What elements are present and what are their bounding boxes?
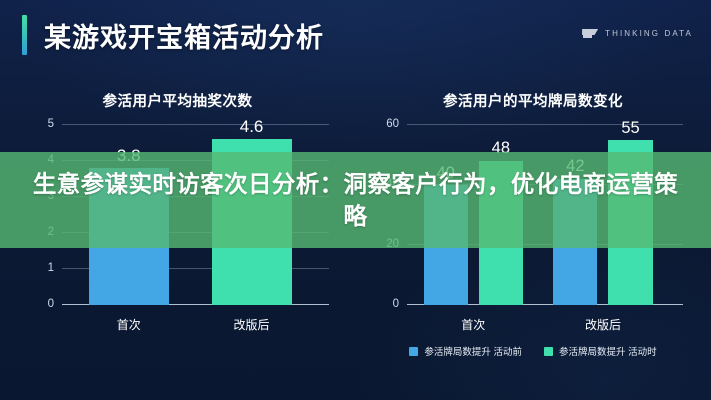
page-header: 某游戏开宝箱活动分析 THINKING DATA (0, 0, 711, 70)
title-accent-bar (22, 15, 27, 55)
ytick-label-1: 1 (48, 262, 54, 274)
ytick-label-5: 5 (48, 118, 54, 130)
ytick-label-0: 0 (48, 298, 54, 310)
gridline-60: 60 (407, 124, 683, 125)
legend-item-during[interactable]: 参活牌局数提升 活动时 (544, 344, 657, 358)
bar-value-label-revised: 4.6 (240, 117, 264, 137)
xaxis-label-revised: 改版后 (585, 316, 621, 333)
right-chart-legend: 参活牌局数提升 活动前 参活牌局数提升 活动时 (355, 344, 711, 358)
page-title: 某游戏开宝箱活动分析 (44, 16, 324, 55)
xaxis-label-first: 首次 (461, 316, 485, 333)
ytick-label-60: 60 (386, 118, 399, 130)
xaxis-label-first: 首次 (117, 316, 141, 333)
legend-label-during: 参活牌局数提升 活动时 (559, 344, 657, 358)
left-chart-title: 参活用户平均抽奖次数 (0, 90, 355, 111)
legend-item-before[interactable]: 参活牌局数提升 活动前 (409, 344, 522, 358)
caption-overlay-band: 生意参谋实时访客次日分析：洞察客户行为，优化电商运营策略 (0, 152, 711, 248)
brand-logo: THINKING DATA (582, 28, 693, 39)
legend-label-before: 参活牌局数提升 活动前 (424, 344, 522, 358)
caption-text: 生意参谋实时访客次日分析：洞察客户行为，优化电商运营策略 (22, 168, 689, 233)
brand-name-label: THINKING DATA (605, 29, 693, 38)
legend-swatch-green-icon (544, 347, 553, 356)
gridline-5: 5 (62, 124, 329, 125)
thinking-data-logo-icon (582, 28, 598, 39)
ytick-label-0: 0 (393, 298, 399, 310)
legend-swatch-blue-icon (409, 347, 418, 356)
right-chart-title: 参活用户的平均牌局数变化 (355, 90, 711, 111)
xaxis-label-revised: 改版后 (234, 316, 270, 333)
bar-value-label-revised-during: 55 (621, 119, 639, 138)
